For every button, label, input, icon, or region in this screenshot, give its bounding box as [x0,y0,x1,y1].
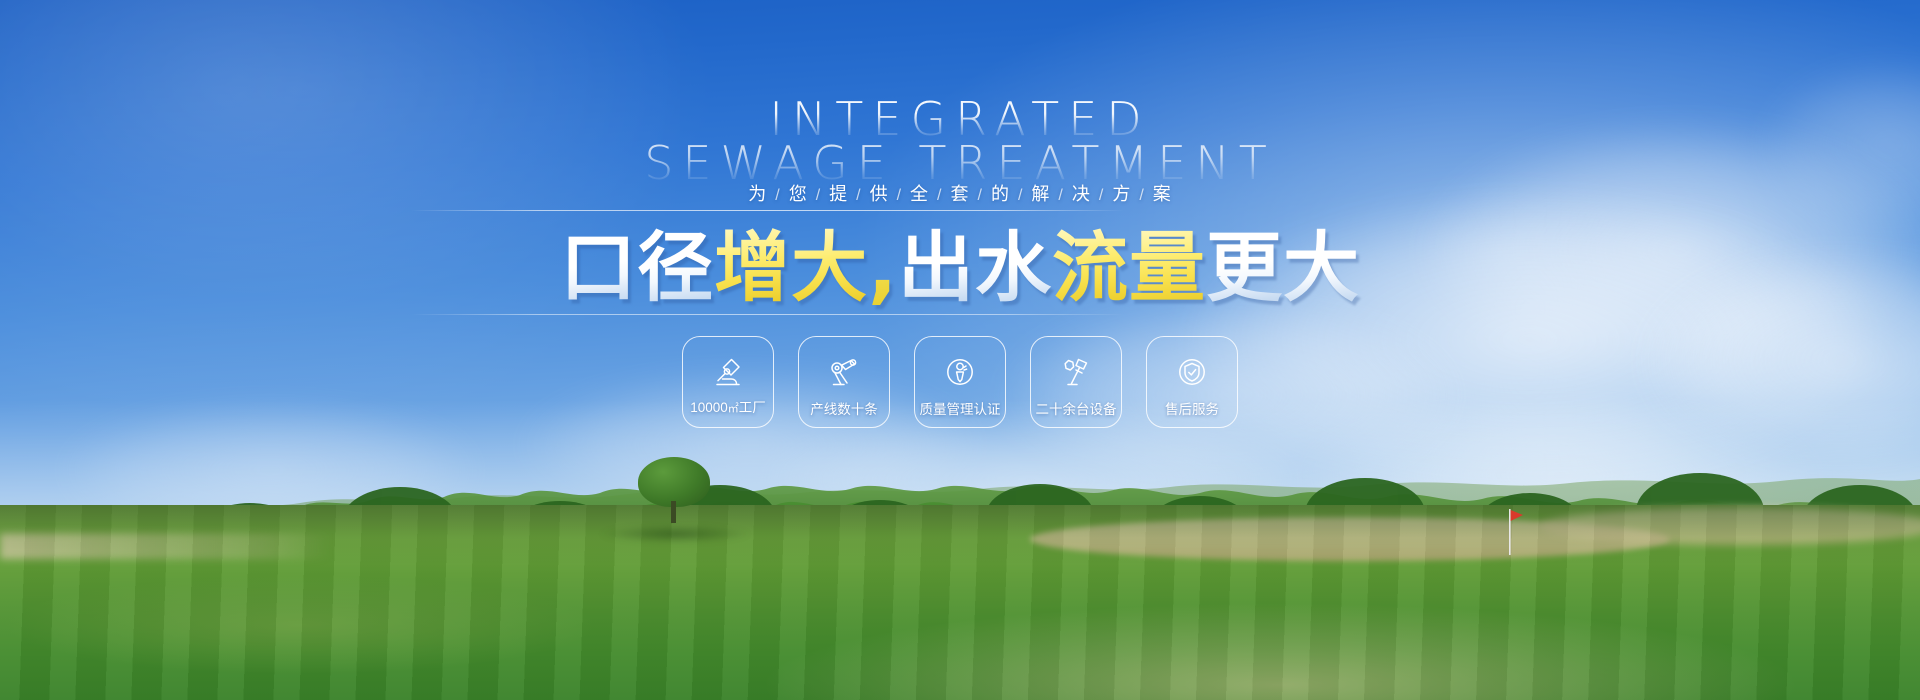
banner-content: INTEGRATED SEWAGE TREATMENT 为/您/提/供/全/套/… [0,0,1920,700]
main-headline: 口径增大,出水流量更大 [0,226,1920,310]
divider-top [411,210,1124,211]
subtitle-row: 为/您/提/供/全/套/的/解/决/方/案 [0,180,1920,206]
feature-badge-label: 产线数十条 [785,402,903,417]
quality-certification-icon [943,355,977,389]
badge-label-unit: ㎡ [728,403,739,415]
headline-char: 更 [1206,226,1283,310]
subtitle-char: 提 [821,180,856,206]
production-line-icon [827,355,861,389]
subtitle-char: 的 [983,180,1018,206]
headline-char: 水 [975,226,1052,310]
subtitle-char: 解 [1023,180,1058,206]
divider-bottom [411,314,1124,315]
headline-char: 大 [791,226,868,310]
subtitle-char: 您 [781,180,816,206]
english-title-line-2: SEWAGE TREATMENT [644,142,1276,184]
headline-char: 出 [898,226,975,310]
feature-badge-1[interactable]: 10000㎡工厂 [682,336,774,428]
subtitle-char: 套 [943,180,978,206]
feature-badge-label: 10000㎡工厂 [669,400,787,417]
headline-char: 增 [714,226,791,310]
subtitle-text: 为/您/提/供/全/套/的/解/决/方/案 [740,180,1180,206]
hero-banner: INTEGRATED SEWAGE TREATMENT 为/您/提/供/全/套/… [0,0,1920,700]
feature-badge-3[interactable]: 质量管理认证 [914,336,1006,428]
headline-char: 量 [1129,226,1206,310]
subtitle-char: 案 [1145,180,1180,206]
badge-label-number: 10000 [690,400,728,415]
feature-badge-row: 10000㎡工厂产线数十条质量管理认证二十余台设备售后服务 [0,336,1920,428]
subtitle-char: 为 [740,180,775,206]
feature-badge-4[interactable]: 二十余台设备 [1030,336,1122,428]
headline-char: 口 [560,226,637,310]
subtitle-char: 全 [902,180,937,206]
badge-label-tail: 工厂 [739,400,766,415]
feature-badge-label: 质量管理认证 [901,402,1019,417]
feature-badge-label: 售后服务 [1133,402,1251,417]
subtitle-char: 方 [1104,180,1139,206]
feature-badge-2[interactable]: 产线数十条 [798,336,890,428]
subtitle-char: 决 [1064,180,1099,206]
headline-char: 径 [637,226,714,310]
microscope-icon [711,355,745,389]
equipment-icon [1059,355,1093,389]
headline-char: 大 [1283,226,1360,310]
headline-char: , [868,226,898,310]
feature-badge-label: 二十余台设备 [1017,402,1135,417]
shield-check-icon [1175,355,1209,389]
headline-char: 流 [1052,226,1129,310]
english-title: INTEGRATED SEWAGE TREATMENT [0,98,1920,185]
subtitle-char: 供 [862,180,897,206]
feature-badge-5[interactable]: 售后服务 [1146,336,1238,428]
english-title-line-1: INTEGRATED [769,98,1150,140]
